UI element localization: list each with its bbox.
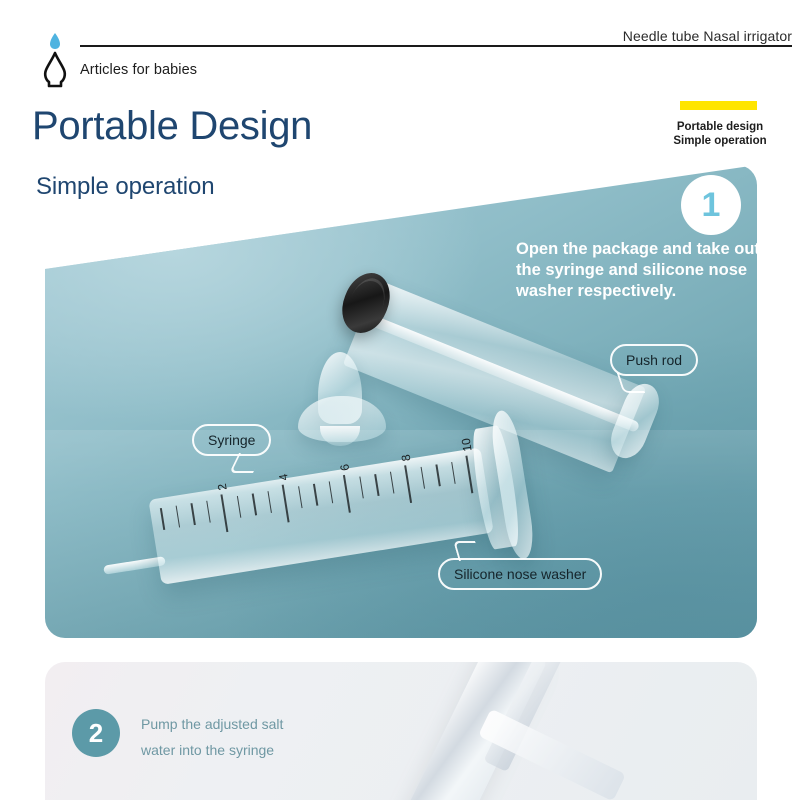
syringe-tick-minor	[420, 467, 425, 489]
syringe-nozzle	[103, 556, 166, 575]
callout-silicone-nose-washer-label: Silicone nose washer	[454, 566, 586, 582]
callout-push-rod-label: Push rod	[626, 352, 682, 368]
callout-push-rod: Push rod	[610, 344, 698, 376]
nose-dropper-icon	[34, 28, 76, 90]
syringe-tick-minor	[252, 493, 257, 515]
syringe-scale-number: 6	[337, 463, 352, 472]
syringe-tick-minor	[206, 501, 211, 523]
syringe-tick-minor	[359, 477, 364, 499]
step-1-badge: 1	[681, 175, 741, 235]
syringe-tick-minor	[175, 506, 180, 528]
callout-syringe-label: Syringe	[208, 432, 255, 448]
keyword-line-1: Portable design	[620, 120, 800, 134]
logo-label: Articles for babies	[80, 62, 197, 78]
syringe-tick-minor	[374, 474, 379, 496]
step-2-instruction: Pump the adjusted salt water into the sy…	[141, 712, 401, 764]
syringe-tick-minor	[160, 508, 165, 530]
syringe-tick-major	[465, 456, 473, 494]
syringe-tick-minor	[267, 491, 272, 513]
syringe-tick-minor	[298, 486, 303, 508]
keyword-highlight-bar	[680, 101, 757, 110]
step-1-instruction: Open the package and take out the syring…	[516, 239, 764, 302]
syringe-tick-major	[282, 485, 290, 523]
callout-silicone-nose-washer: Silicone nose washer	[438, 558, 602, 590]
syringe-scale-number: 10	[459, 437, 475, 452]
syringe-tick-major	[220, 494, 228, 532]
syringe-scale-number: 8	[399, 453, 414, 462]
syringe-scale-number: 4	[276, 473, 291, 482]
syringe-tick-minor	[190, 503, 195, 525]
page-title: Portable Design	[32, 106, 312, 146]
header-divider	[80, 45, 792, 47]
syringe-tick-minor	[328, 481, 333, 503]
page-subtitle: Simple operation	[36, 175, 215, 199]
syringe-tick-minor	[435, 464, 440, 486]
syringe-tick-minor	[451, 462, 456, 484]
step-2-instruction-line-1: Pump the adjusted salt	[141, 712, 401, 738]
water-droplet-icon	[50, 33, 60, 49]
syringe-tick-minor	[389, 472, 394, 494]
brand-tagline: Needle tube Nasal irrigator	[623, 28, 792, 44]
syringe-tick-major	[343, 475, 351, 513]
syringe-tick-major	[404, 465, 412, 503]
syringe-tick-minor	[313, 484, 318, 506]
syringe-tick-minor	[236, 496, 241, 518]
step-2-badge: 2	[72, 709, 120, 757]
step-2-instruction-line-2: water into the syringe	[141, 738, 401, 764]
keyword-block: Portable design Simple operation	[620, 120, 800, 149]
callout-syringe: Syringe	[192, 424, 271, 456]
keyword-line-2: Simple operation	[620, 134, 800, 148]
syringe-scale-number: 2	[215, 483, 230, 492]
